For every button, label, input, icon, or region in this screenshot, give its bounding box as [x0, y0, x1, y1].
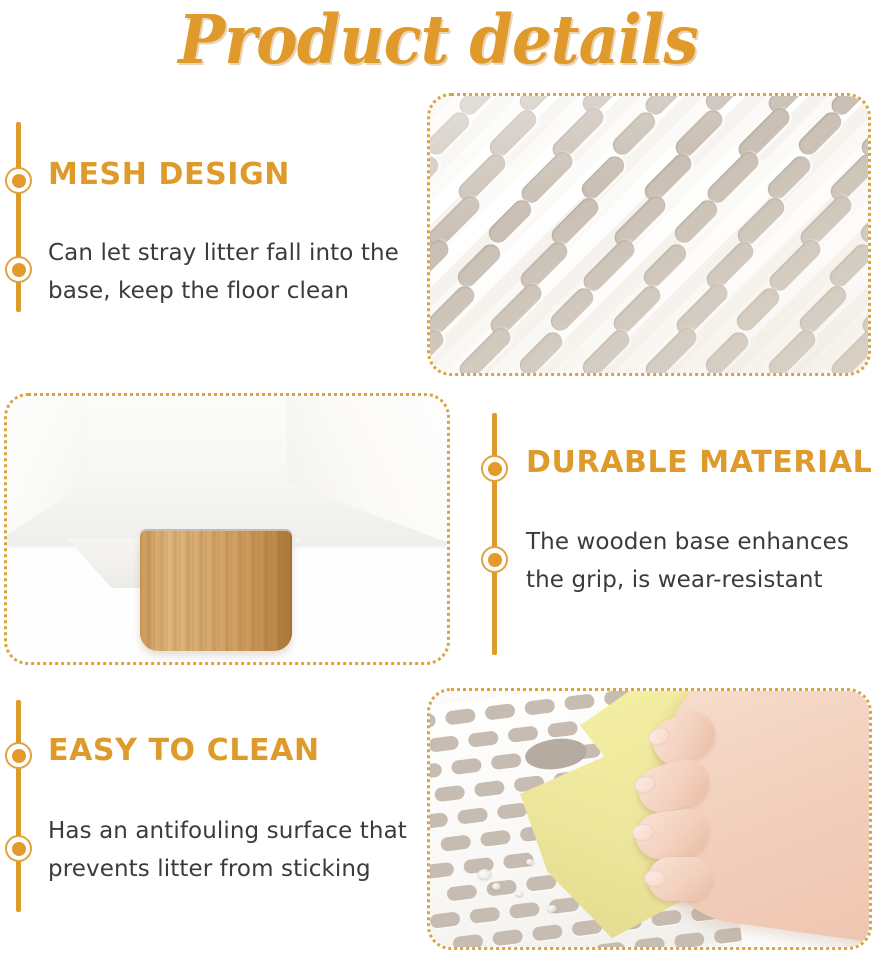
- timeline-marker-dot: [481, 546, 508, 573]
- tray-slot: [594, 941, 625, 947]
- feature-block-easy-to-clean: EASY TO CLEAN Has an antifouling surface…: [6, 700, 416, 915]
- wooden-leg-scene: [7, 396, 447, 662]
- tray-slot: [469, 906, 500, 924]
- timeline-line: [16, 700, 21, 912]
- photo-hand-wiping-tray: [430, 691, 869, 947]
- feature-description-line: base, keep the floor clean: [48, 272, 399, 310]
- mesh-lighting-overlay: [430, 96, 868, 373]
- water-droplet: [548, 905, 557, 912]
- tray-slot: [445, 708, 476, 726]
- timeline-line: [492, 413, 497, 655]
- photo-mesh-closeup: [430, 96, 868, 373]
- water-droplet: [516, 891, 523, 896]
- timeline-line: [16, 122, 21, 312]
- tray-slot: [486, 879, 517, 897]
- feature-title-durable-material: DURABLE MATERIAL: [526, 446, 872, 480]
- timeline-marker-dot: [5, 256, 32, 283]
- tray-slot: [492, 929, 523, 947]
- cleaning-scene: [430, 691, 869, 947]
- tray-slot: [430, 735, 459, 753]
- page-title: Product details: [31, 4, 846, 76]
- timeline-marker-dot: [5, 835, 32, 862]
- tray-slot: [507, 725, 538, 743]
- fingernail: [644, 870, 666, 887]
- photo-wooden-leg: [7, 396, 447, 662]
- tray-slot: [490, 753, 521, 771]
- feature-description-line: prevents litter from sticking: [48, 850, 407, 888]
- feature-description-durable-material: The wooden base enhances the grip, is we…: [526, 523, 849, 599]
- tray-slot: [457, 807, 488, 825]
- tray-slot: [440, 834, 471, 852]
- tray-slot: [430, 812, 449, 830]
- tray-slot: [532, 924, 563, 942]
- timeline-marker-dot: [5, 742, 32, 769]
- timeline-marker-dot: [481, 455, 508, 482]
- tray-slot: [430, 911, 461, 929]
- feature-block-mesh-design: MESH DESIGN Can let stray litter fall in…: [6, 122, 416, 322]
- wooden-leg: [140, 531, 292, 651]
- tray-slot: [524, 698, 555, 716]
- water-droplet: [478, 869, 491, 879]
- tray-slot: [452, 934, 483, 947]
- feature-title-mesh-design: MESH DESIGN: [48, 158, 290, 192]
- feature-description-easy-to-clean: Has an antifouling surface that prevents…: [48, 812, 407, 888]
- product-details-infographic: Product details MESH DESIGN Can let stra…: [0, 0, 876, 958]
- tray-slot: [430, 713, 436, 731]
- photo-panel-mesh-closeup: [427, 93, 871, 376]
- tray-slot: [555, 946, 586, 947]
- tray-slot: [484, 703, 515, 721]
- feature-block-durable-material: DURABLE MATERIAL The wooden base enhance…: [482, 413, 876, 663]
- feature-description-line: the grip, is wear-resistant: [526, 561, 849, 599]
- photo-panel-wooden-leg: [4, 393, 450, 665]
- tray-slot: [430, 762, 443, 780]
- tray-slot: [674, 932, 705, 947]
- tray-slot: [497, 802, 528, 820]
- water-droplet: [526, 859, 534, 865]
- tray-slot: [526, 874, 557, 892]
- tray-slot: [547, 721, 578, 739]
- tray-slot: [474, 780, 505, 798]
- feature-description-line: The wooden base enhances: [526, 523, 849, 561]
- photo-panel-hand-wiping-tray: [427, 688, 872, 950]
- feature-title-easy-to-clean: EASY TO CLEAN: [48, 734, 320, 768]
- tray-slot: [430, 862, 455, 880]
- tray-slot: [468, 730, 499, 748]
- timeline-marker-dot: [5, 167, 32, 194]
- tray-slot: [446, 884, 477, 902]
- feature-description-line: Can let stray litter fall into the: [48, 234, 399, 272]
- water-droplet: [492, 883, 501, 890]
- tray-slot: [509, 902, 540, 920]
- feature-description-line: Has an antifouling surface that: [48, 812, 407, 850]
- tray-slot: [480, 830, 511, 848]
- tray-slot: [564, 693, 595, 711]
- tray-slot: [434, 785, 465, 803]
- tray-slot: [634, 937, 665, 947]
- tray-slot: [451, 758, 482, 776]
- feature-description-mesh-design: Can let stray litter fall into the base,…: [48, 234, 399, 310]
